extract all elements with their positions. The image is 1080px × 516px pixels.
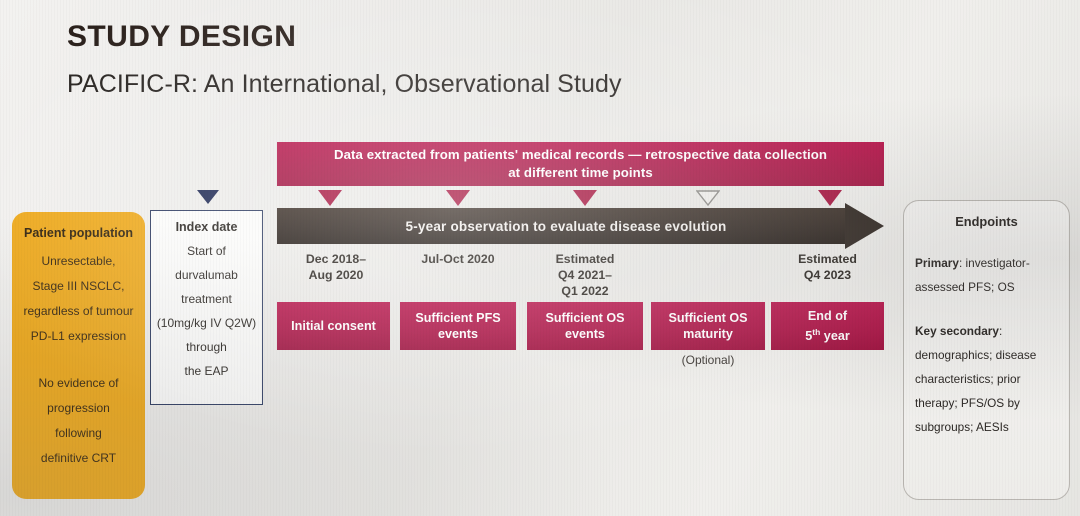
timeline-milestone-label: Sufficient OSmaturity [668, 310, 747, 342]
endpoints-secondary-line: therapy; PFS/OS by [915, 391, 1058, 415]
endpoints-primary-line: assessed PFS; OS [915, 275, 1058, 299]
criteria-line: Unresectable, [19, 249, 138, 274]
endpoints-secondary-line: characteristics; prior [915, 367, 1058, 391]
timeline-date-label: EstimatedQ4 2023 [771, 251, 884, 283]
observation-arrow-body: 5-year observation to evaluate disease e… [277, 208, 845, 244]
timeline-marker-filled-triangle-icon [573, 190, 597, 206]
timeline-milestone-box[interactable]: End of5th year [771, 302, 884, 350]
timeline-marker-filled-triangle-icon [318, 190, 342, 206]
timeline-optional-note: (Optional) [651, 353, 765, 367]
spacer [19, 349, 138, 371]
observation-arrow-label: 5-year observation to evaluate disease e… [406, 219, 727, 234]
timeline-date-line: Estimated [527, 251, 643, 267]
timeline-milestone-box[interactable]: Sufficient PFSevents [400, 302, 516, 350]
index-date-line: Start of [156, 239, 257, 263]
endpoints-primary-block: Primary: investigator- assessed PFS; OS [915, 251, 1058, 299]
endpoints-secondary-line: demographics; disease [915, 343, 1058, 367]
patient-population-criteria-1: Unresectable, Stage III NSCLC, regardles… [19, 249, 138, 349]
criteria-line: PD-L1 expression [19, 324, 138, 349]
timeline-milestone-box[interactable]: Sufficient OSevents [527, 302, 643, 350]
patient-population-criteria-2: No evidence of progression following def… [19, 371, 138, 471]
timeline-date-line: Dec 2018– [281, 251, 391, 267]
page-subtitle: PACIFIC-R: An International, Observation… [67, 70, 622, 99]
index-date-pointer-triangle-icon [197, 190, 219, 204]
endpoints-panel: Endpoints Primary: investigator- assesse… [903, 200, 1070, 500]
endpoints-secondary-first-line: Key secondary: [915, 319, 1058, 343]
index-date-box: Index date Start of durvalumab treatment… [150, 210, 263, 405]
criteria-line: No evidence of [19, 371, 138, 396]
index-date-line: treatment [156, 287, 257, 311]
endpoints-heading: Endpoints [915, 214, 1058, 229]
banner-line-1: Data extracted from patients' medical re… [334, 147, 827, 162]
endpoints-secondary-block: Key secondary: demographics; disease cha… [915, 319, 1058, 439]
patient-population-box: Patient population Unresectable, Stage I… [12, 212, 145, 499]
endpoints-primary-label: Primary [915, 256, 959, 270]
index-date-line: (10mg/kg IV Q2W) [156, 311, 257, 335]
patient-population-heading: Patient population [19, 226, 138, 240]
timeline-date-line: Estimated [771, 251, 884, 267]
observation-arrow: 5-year observation to evaluate disease e… [277, 208, 884, 244]
criteria-line: Stage III NSCLC, [19, 274, 138, 299]
endpoints-primary-rest: : investigator- [959, 256, 1030, 270]
criteria-line: regardless of tumour [19, 299, 138, 324]
endpoints-secondary-line: subgroups; AESIs [915, 415, 1058, 439]
index-date-line: the EAP [156, 359, 257, 383]
timeline-date-line: Q4 2021– [527, 267, 643, 283]
page-title: STUDY DESIGN [67, 20, 296, 54]
index-date-heading: Index date [156, 220, 257, 234]
observation-arrow-head-icon [845, 203, 884, 249]
endpoints-primary-first-line: Primary: investigator- [915, 251, 1058, 275]
banner-line-2: at different time points [508, 165, 653, 180]
timeline-marker-hollow-triangle-icon [696, 190, 720, 206]
timeline-marker-filled-triangle-icon [818, 190, 842, 206]
criteria-line: following [19, 421, 138, 446]
timeline-date-label: Jul-Oct 2020 [400, 251, 516, 267]
index-date-line: durvalumab [156, 263, 257, 287]
timeline-date-line: Aug 2020 [281, 267, 391, 283]
data-extraction-banner: Data extracted from patients' medical re… [277, 142, 884, 186]
data-extraction-banner-text: Data extracted from patients' medical re… [334, 146, 827, 182]
timeline-date-label: EstimatedQ4 2021–Q1 2022 [527, 251, 643, 299]
timeline-date-line: Jul-Oct 2020 [400, 251, 516, 267]
timeline-date-label: Dec 2018–Aug 2020 [281, 251, 391, 283]
timeline-milestone-label: Sufficient OSevents [545, 310, 624, 342]
timeline-date-line: Q1 2022 [527, 283, 643, 299]
timeline-marker-filled-triangle-icon [446, 190, 470, 206]
index-date-line: through [156, 335, 257, 359]
timeline-milestone-box[interactable]: Sufficient OSmaturity [651, 302, 765, 350]
timeline-milestone-label: End of5th year [805, 308, 849, 344]
timeline-milestone-box[interactable]: Initial consent [277, 302, 390, 350]
criteria-line: definitive CRT [19, 446, 138, 471]
criteria-line: progression [19, 396, 138, 421]
endpoints-secondary-label: Key secondary [915, 324, 999, 338]
slide-canvas: STUDY DESIGN PACIFIC-R: An International… [0, 0, 1080, 516]
timeline-milestone-label: Sufficient PFSevents [415, 310, 500, 342]
timeline-date-line: Q4 2023 [771, 267, 884, 283]
timeline-milestone-label: Initial consent [291, 318, 376, 334]
endpoints-secondary-rest: : [999, 324, 1002, 338]
